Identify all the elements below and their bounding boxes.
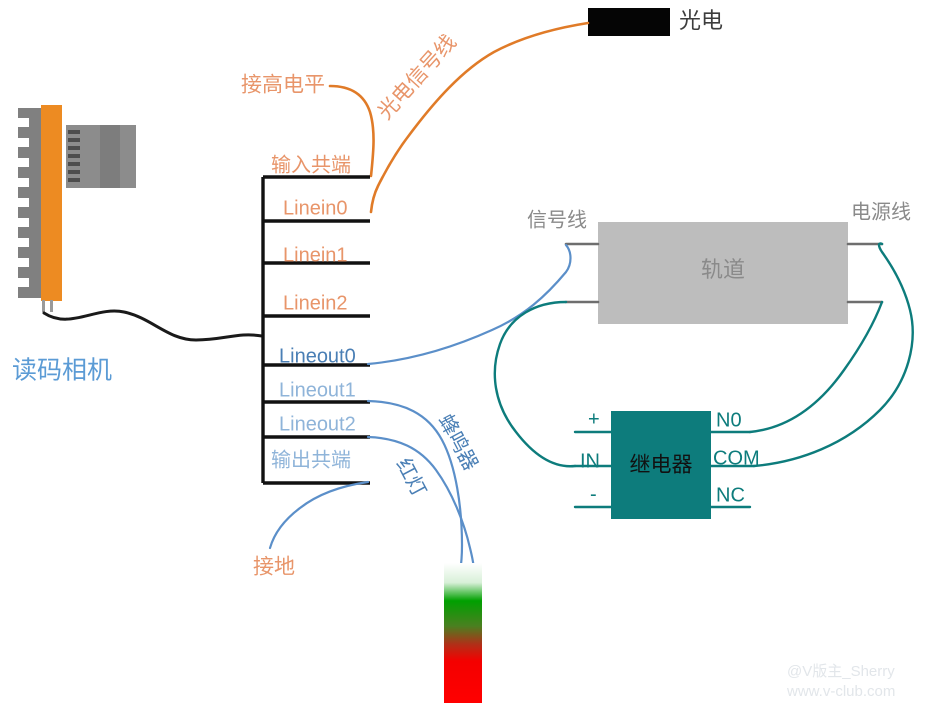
terminal-label-lineout0: Lineout0 xyxy=(279,345,356,367)
relay-unit: 继电器 + IN - N0 COM NC xyxy=(575,408,760,519)
lineout0-to-track-wire xyxy=(368,245,571,364)
red-light-label: 红灯 xyxy=(392,454,431,500)
relay-terminal-label-in: IN xyxy=(580,450,600,472)
track-unit: 轨道 信号线 电源线 xyxy=(527,200,911,324)
wiring-diagram: 读码相机 光电 光电信号线 接高电平 输入共端 Linein0 Linein1 … xyxy=(0,0,936,706)
terminal-label-linein2: Linein2 xyxy=(283,292,348,314)
terminal-label-output-common: 输出共端 xyxy=(271,448,351,471)
ground-label: 接地 xyxy=(253,556,295,579)
camera-face-panel xyxy=(41,105,62,301)
ground-wire xyxy=(270,482,368,548)
photoelectric-sensor: 光电 xyxy=(588,8,723,36)
terminal-block: 输入共端 Linein0 Linein1 Linein2 Lineout0 Li… xyxy=(263,153,370,483)
indicator-light-tower xyxy=(444,563,482,703)
photo-signal-wire xyxy=(371,23,588,212)
light-tower-body xyxy=(444,563,482,703)
camera-fins xyxy=(18,118,29,287)
track-label: 轨道 xyxy=(701,257,745,282)
terminal-label-input-common: 输入共端 xyxy=(271,153,351,176)
relay-terminal-label-plus: + xyxy=(588,408,600,430)
watermark-line2: www.v-club.com xyxy=(786,683,895,700)
photo-sensor-box xyxy=(588,8,670,36)
track-to-relay-in-wire xyxy=(495,302,575,466)
watermark: @V版主_Sherry www.v-club.com xyxy=(786,663,895,700)
camera-connector-shade xyxy=(100,125,120,188)
camera-label: 读码相机 xyxy=(12,357,112,385)
terminal-label-linein1: Linein1 xyxy=(283,244,348,266)
relay-terminal-label-minus: - xyxy=(590,483,597,505)
high-level-label: 接高电平 xyxy=(241,74,325,97)
relay-terminal-label-nc: NC xyxy=(716,484,745,506)
camera-pigtail-a xyxy=(42,300,45,312)
watermark-line1: @V版主_Sherry xyxy=(787,663,895,680)
camera-pigtail-b xyxy=(50,300,53,312)
terminal-label-lineout1: Lineout1 xyxy=(279,379,356,401)
terminal-label-linein0: Linein0 xyxy=(283,197,348,219)
power-line-label: 电源线 xyxy=(851,200,911,223)
relay-terminal-label-no: N0 xyxy=(716,409,742,431)
camera-cable xyxy=(44,311,262,340)
signal-line-label: 信号线 xyxy=(527,208,587,231)
relay-label: 继电器 xyxy=(630,454,693,477)
relay-terminal-label-com: COM xyxy=(713,447,760,469)
read-code-camera: 读码相机 xyxy=(12,105,262,385)
buzzer-label: 蜂鸣器 xyxy=(434,411,482,475)
photo-sensor-label: 光电 xyxy=(679,8,723,33)
terminal-label-lineout2: Lineout2 xyxy=(279,413,356,435)
photo-signal-wire-label: 光电信号线 xyxy=(374,31,461,124)
